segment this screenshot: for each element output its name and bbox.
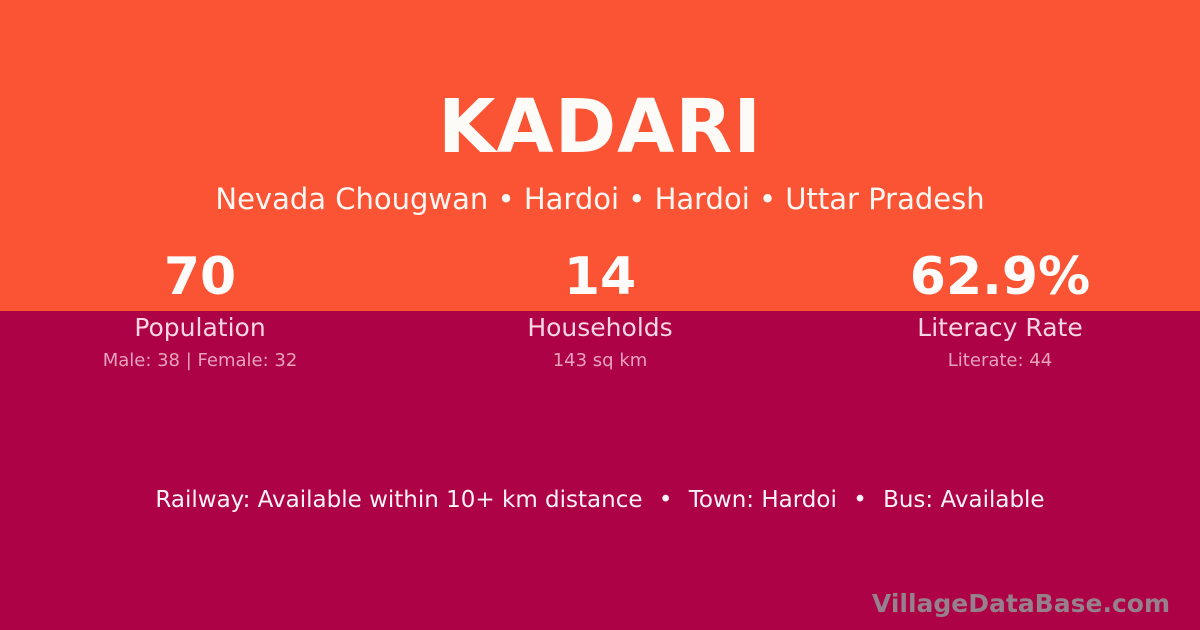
stat-value: 14 bbox=[400, 246, 800, 308]
stat-households: 14 Households 143 sq km bbox=[400, 246, 800, 372]
stat-value: 62.9% bbox=[800, 246, 1200, 308]
stats-row: 70 Population Male: 38 | Female: 32 14 H… bbox=[0, 246, 1200, 372]
amenity-railway: Railway: Available within 10+ km distanc… bbox=[155, 487, 642, 513]
stat-value: 70 bbox=[0, 246, 400, 308]
village-info-card: KADARI Nevada Chougwan • Hardoi • Hardoi… bbox=[0, 0, 1200, 630]
amenity-town: Town: Hardoi bbox=[689, 487, 837, 513]
bullet-separator-icon: • bbox=[844, 485, 876, 515]
amenities-line: Railway: Available within 10+ km distanc… bbox=[0, 485, 1200, 515]
stat-label: Population bbox=[0, 313, 400, 343]
stat-subtext: Literate: 44 bbox=[800, 350, 1200, 372]
stat-label: Literacy Rate bbox=[800, 313, 1200, 343]
stat-literacy-rate: 62.9% Literacy Rate Literate: 44 bbox=[800, 246, 1200, 372]
page-title: KADARI bbox=[0, 86, 1200, 168]
stat-label: Households bbox=[400, 313, 800, 343]
breadcrumb: Nevada Chougwan • Hardoi • Hardoi • Utta… bbox=[0, 181, 1200, 217]
amenity-bus: Bus: Available bbox=[883, 487, 1045, 513]
stat-subtext: 143 sq km bbox=[400, 350, 800, 372]
stat-population: 70 Population Male: 38 | Female: 32 bbox=[0, 246, 400, 372]
bullet-separator-icon: • bbox=[650, 485, 682, 515]
stat-subtext: Male: 38 | Female: 32 bbox=[0, 350, 400, 372]
site-watermark: VillageDataBase.com bbox=[872, 588, 1170, 620]
